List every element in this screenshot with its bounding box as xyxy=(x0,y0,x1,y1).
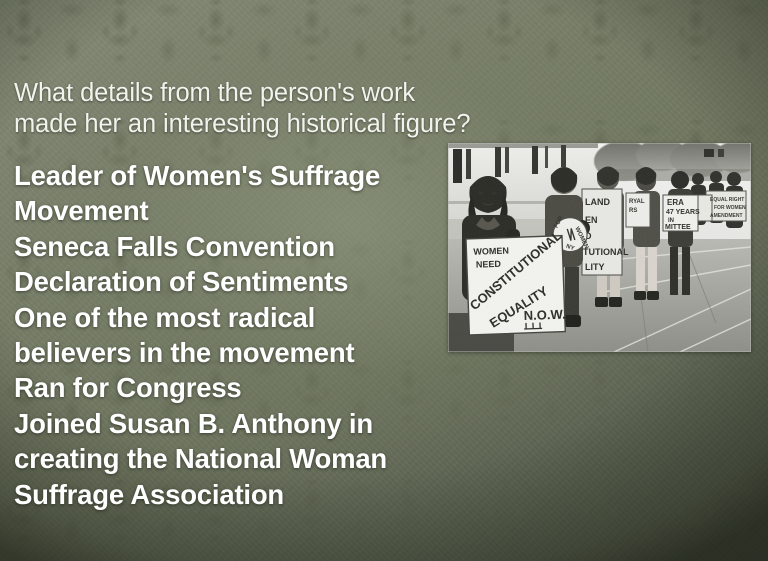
svg-text:WOMEN: WOMEN xyxy=(473,246,509,257)
list-item: Declaration of Sentiments xyxy=(14,264,466,299)
svg-text:LAND: LAND xyxy=(585,197,610,207)
protest-photograph: EQUAL RIGHT FOR WOMEN AMENDMENT ERA 47 Y… xyxy=(448,143,751,352)
svg-text:AMENDMENT: AMENDMENT xyxy=(710,213,743,219)
slide-bullet-list: Leader of Women's Suffrage Movement Sene… xyxy=(14,158,466,512)
svg-text:TUTIONAL: TUTIONAL xyxy=(583,247,629,257)
svg-text:NEED: NEED xyxy=(476,259,502,270)
protest-photo-illustration: EQUAL RIGHT FOR WOMEN AMENDMENT ERA 47 Y… xyxy=(448,143,751,352)
list-item: Ran for Congress xyxy=(14,370,466,405)
svg-text:ERA: ERA xyxy=(667,198,684,207)
svg-text:47 YEARS: 47 YEARS xyxy=(666,209,700,216)
slide-question: What details from the person's work made… xyxy=(14,78,514,140)
list-item: One of the most radical believers in the… xyxy=(14,300,466,371)
list-item: Joined Susan B. Anthony in creating the … xyxy=(14,406,466,512)
svg-text:LITY: LITY xyxy=(585,262,605,272)
svg-text:RYAL: RYAL xyxy=(629,199,645,205)
list-item: Leader of Women's Suffrage Movement xyxy=(14,158,466,229)
svg-text:FOR WOMEN: FOR WOMEN xyxy=(714,205,746,211)
svg-text:RS: RS xyxy=(629,208,637,214)
svg-text:MITTEE: MITTEE xyxy=(665,224,691,231)
slide-canvas: What details from the person's work made… xyxy=(0,0,768,561)
svg-text:EQUAL RIGHT: EQUAL RIGHT xyxy=(710,197,744,203)
list-item: Seneca Falls Convention xyxy=(14,229,466,264)
svg-text:N.O.W.: N.O.W. xyxy=(523,307,565,323)
